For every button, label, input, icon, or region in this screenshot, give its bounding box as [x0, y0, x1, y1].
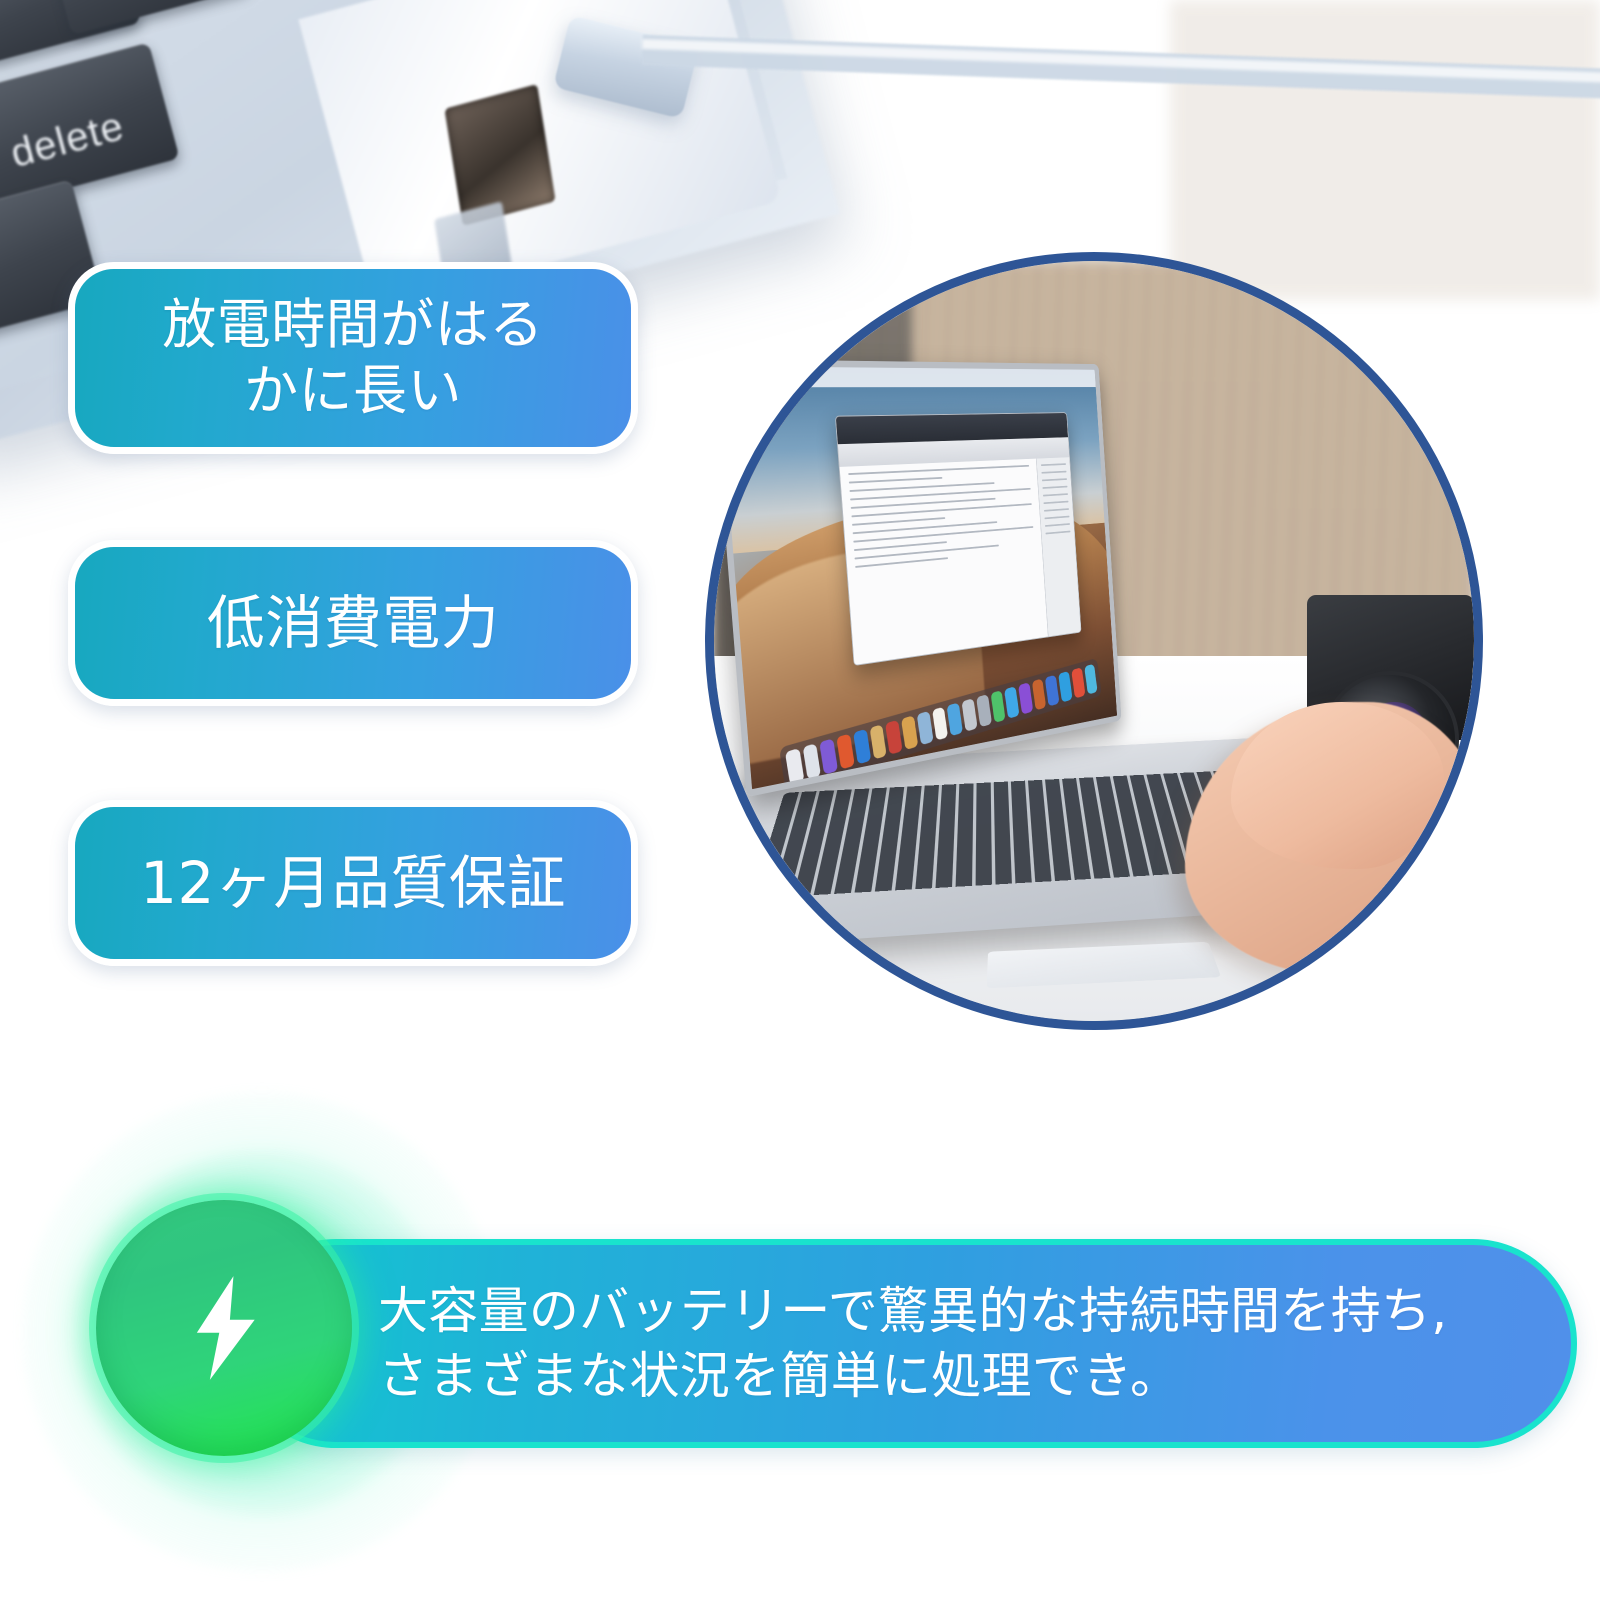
sidebar-line: [1043, 493, 1068, 496]
sidebar-line: [1041, 463, 1066, 466]
text-line: [854, 541, 947, 551]
product-photo-circle: [705, 252, 1483, 1030]
dock-icon: [820, 738, 839, 775]
dock-icon: [901, 715, 918, 750]
infographic-canvas: delete 放電時間がはる かに長い 低消費電力 12ヶ月品質保証: [0, 0, 1600, 1600]
macos-menubar: [719, 366, 1096, 387]
sidebar-line: [1044, 508, 1069, 512]
text-line: [852, 517, 945, 526]
dock-icon: [932, 706, 949, 741]
dock-icon: [1084, 663, 1098, 695]
feature-pill-label: 低消費電力: [185, 588, 522, 659]
sidebar-line: [1046, 530, 1071, 534]
dock-icon: [870, 724, 888, 760]
lightning-bolt-icon: [165, 1269, 283, 1387]
sidebar-line: [1042, 470, 1067, 473]
sidebar-line: [1045, 523, 1070, 527]
dock-icon: [1032, 678, 1047, 711]
text-line: [850, 482, 994, 492]
sidebar-line: [1042, 478, 1067, 481]
sidebar-line: [1045, 515, 1070, 519]
dock-icon: [853, 729, 871, 765]
highlight-banner-text: 大容量のバッテリーで驚異的な持続時間を持ち, さまざまな状況を簡単に処理でき。: [238, 1279, 1488, 1409]
dock-icon: [1005, 686, 1020, 719]
text-line: [854, 526, 1034, 543]
dock-icon: [1045, 674, 1060, 706]
lightning-bolt-badge: [96, 1200, 352, 1456]
dock-icon: [1058, 671, 1072, 703]
text-line: [849, 477, 942, 484]
text-line: [856, 557, 948, 568]
window-content: [840, 458, 1049, 664]
dock-icon: [886, 719, 903, 755]
sidebar-line: [1044, 500, 1069, 503]
dock-icon: [1071, 667, 1085, 699]
dock-icon: [803, 743, 822, 780]
dock-icon: [976, 694, 992, 728]
dock-icon: [991, 690, 1007, 723]
dock-icon: [785, 748, 804, 786]
feature-pill-longer-discharge: 放電時間がはる かに長い: [68, 262, 638, 454]
dock-icon: [917, 711, 934, 746]
sidebar-line: [1043, 485, 1068, 488]
dock-icon: [837, 733, 855, 769]
feature-pill-label: 放電時間がはる かに長い: [140, 292, 566, 424]
laptop-screen: [714, 359, 1121, 797]
dock-icon: [947, 702, 963, 736]
text-line: [849, 465, 1030, 475]
feature-pill-low-power: 低消費電力: [68, 540, 638, 706]
feature-pill-warranty: 12ヶ月品質保証: [68, 800, 638, 966]
text-editor-window: [835, 412, 1081, 666]
product-photo-inner: [714, 261, 1474, 1021]
highlight-banner: 大容量のバッテリーで驚異的な持続時間を持ち, さまざまな状況を簡単に処理でき。: [232, 1239, 1577, 1448]
dock-icon: [962, 698, 978, 732]
feature-pill-label: 12ヶ月品質保証: [118, 848, 588, 919]
dock-icon: [1018, 682, 1033, 715]
